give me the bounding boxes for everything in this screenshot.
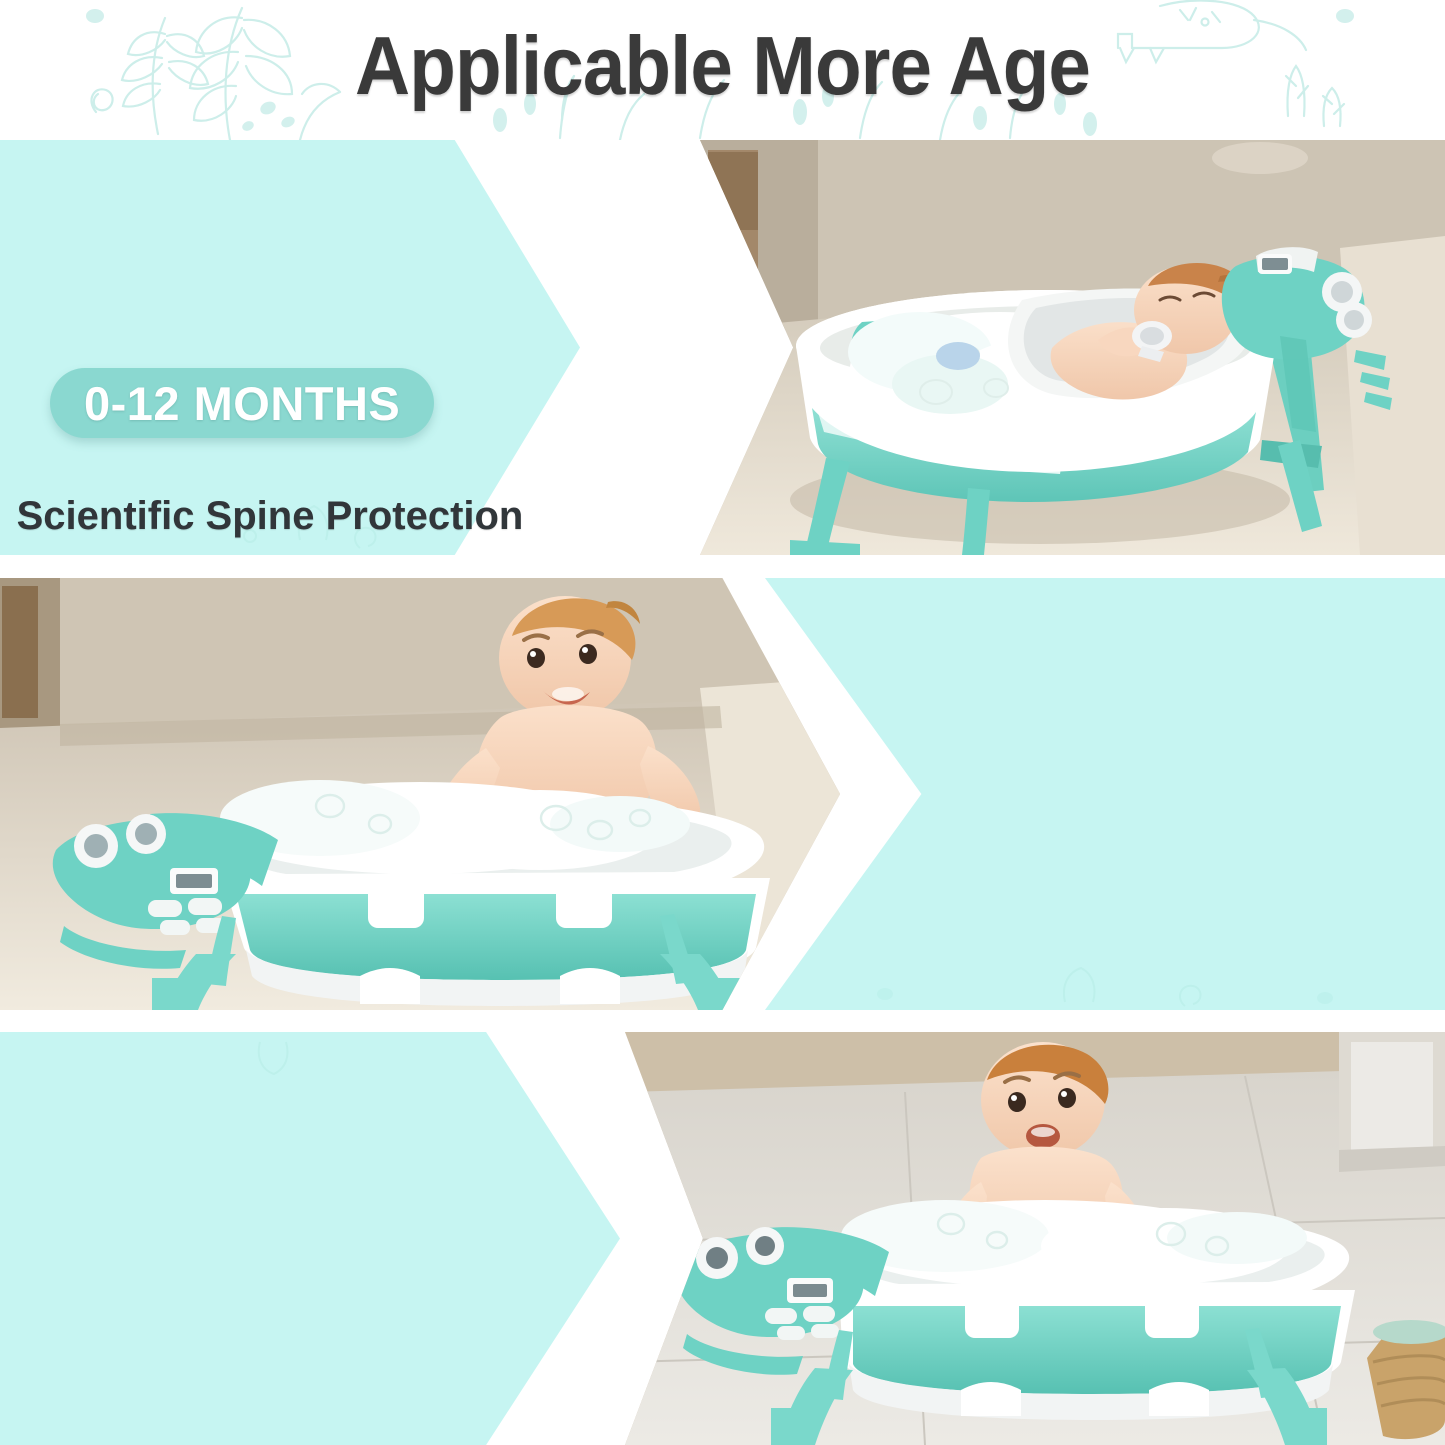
newborn-bathtub-illustration <box>700 140 1445 555</box>
toddler-sitting-bathtub-illustration <box>0 578 840 1010</box>
panel-background-doodle <box>0 1032 620 1445</box>
panel-18-24-months: 18-24 MONTHS Sufficient space for the ba… <box>0 1032 1445 1445</box>
header-banner: Applicable More Age <box>0 0 1445 140</box>
newborn-in-bathtub-photo <box>700 140 1445 555</box>
panel-12-18-months-text-block <box>765 578 1445 1010</box>
older-toddler-in-bathtub-photo <box>625 1032 1445 1445</box>
older-toddler-bathtub-illustration <box>625 1032 1445 1445</box>
panel-0-12-months: 0-12 MONTHS Scientific Spine Protection <box>0 140 1445 555</box>
infographic-page: Applicable More Age <box>0 0 1445 1445</box>
panel-18-24-months-text-block <box>0 1032 620 1445</box>
toddler-sitting-in-bathtub-photo <box>0 578 840 1010</box>
age-badge-label: 0-12 MONTHS <box>84 380 400 427</box>
panel-12-18-months: 12-18 MONTHS Baby Sit Up Bathing <box>0 578 1445 1010</box>
age-badge-0-12-months: 0-12 MONTHS <box>50 368 434 438</box>
page-title: Applicable More Age <box>58 18 1387 114</box>
panel-background-doodle <box>765 578 1445 1010</box>
panel-0-12-months-caption: Scientific Spine Protection <box>10 492 530 541</box>
